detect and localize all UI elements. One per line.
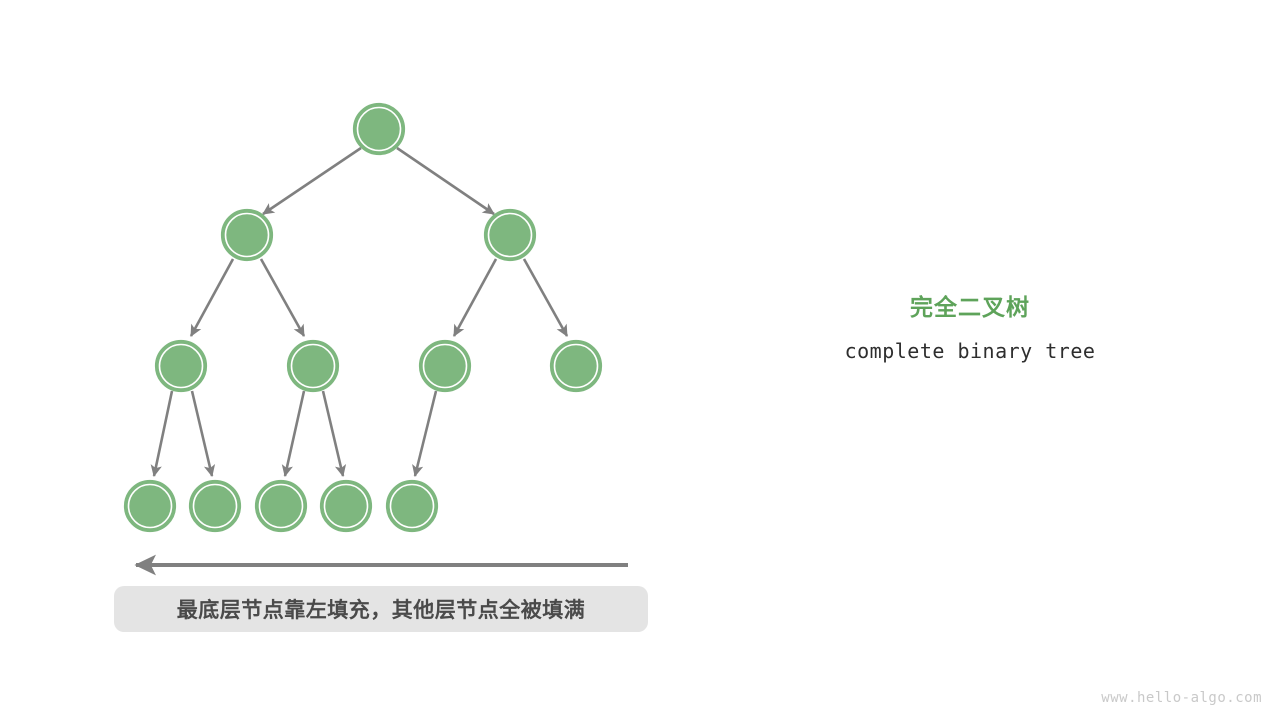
tree-edge xyxy=(191,259,233,336)
tree-edge xyxy=(524,259,567,336)
tree-edge xyxy=(192,391,212,476)
tree-nodes xyxy=(125,104,601,531)
tree-node[interactable] xyxy=(256,481,306,531)
tree-edge xyxy=(261,259,304,336)
legend-subtitle: complete binary tree xyxy=(780,338,1160,364)
tree-node[interactable] xyxy=(321,481,371,531)
tree-edge xyxy=(323,391,343,476)
caption-pill: 最底层节点靠左填充，其他层节点全被填满 xyxy=(114,586,648,632)
tree-node[interactable] xyxy=(222,210,272,260)
tree-edges xyxy=(154,148,567,476)
tree-edge xyxy=(263,148,361,214)
tree-node[interactable] xyxy=(485,210,535,260)
legend-block: 完全二叉树 complete binary tree xyxy=(780,292,1160,364)
legend-title: 完全二叉树 xyxy=(780,292,1160,322)
tree-node[interactable] xyxy=(387,481,437,531)
tree-node[interactable] xyxy=(354,104,404,154)
tree-node[interactable] xyxy=(190,481,240,531)
tree-node[interactable] xyxy=(125,481,175,531)
tree-edge xyxy=(397,148,494,214)
tree-edge xyxy=(415,391,436,476)
tree-node[interactable] xyxy=(551,341,601,391)
tree-edge xyxy=(454,259,496,336)
tree-node[interactable] xyxy=(288,341,338,391)
tree-node[interactable] xyxy=(420,341,470,391)
tree-edge xyxy=(154,391,172,476)
watermark: www.hello-algo.com xyxy=(1101,690,1262,706)
tree-node[interactable] xyxy=(156,341,206,391)
tree-edge xyxy=(285,391,304,476)
caption-text: 最底层节点靠左填充，其他层节点全被填满 xyxy=(177,594,586,624)
